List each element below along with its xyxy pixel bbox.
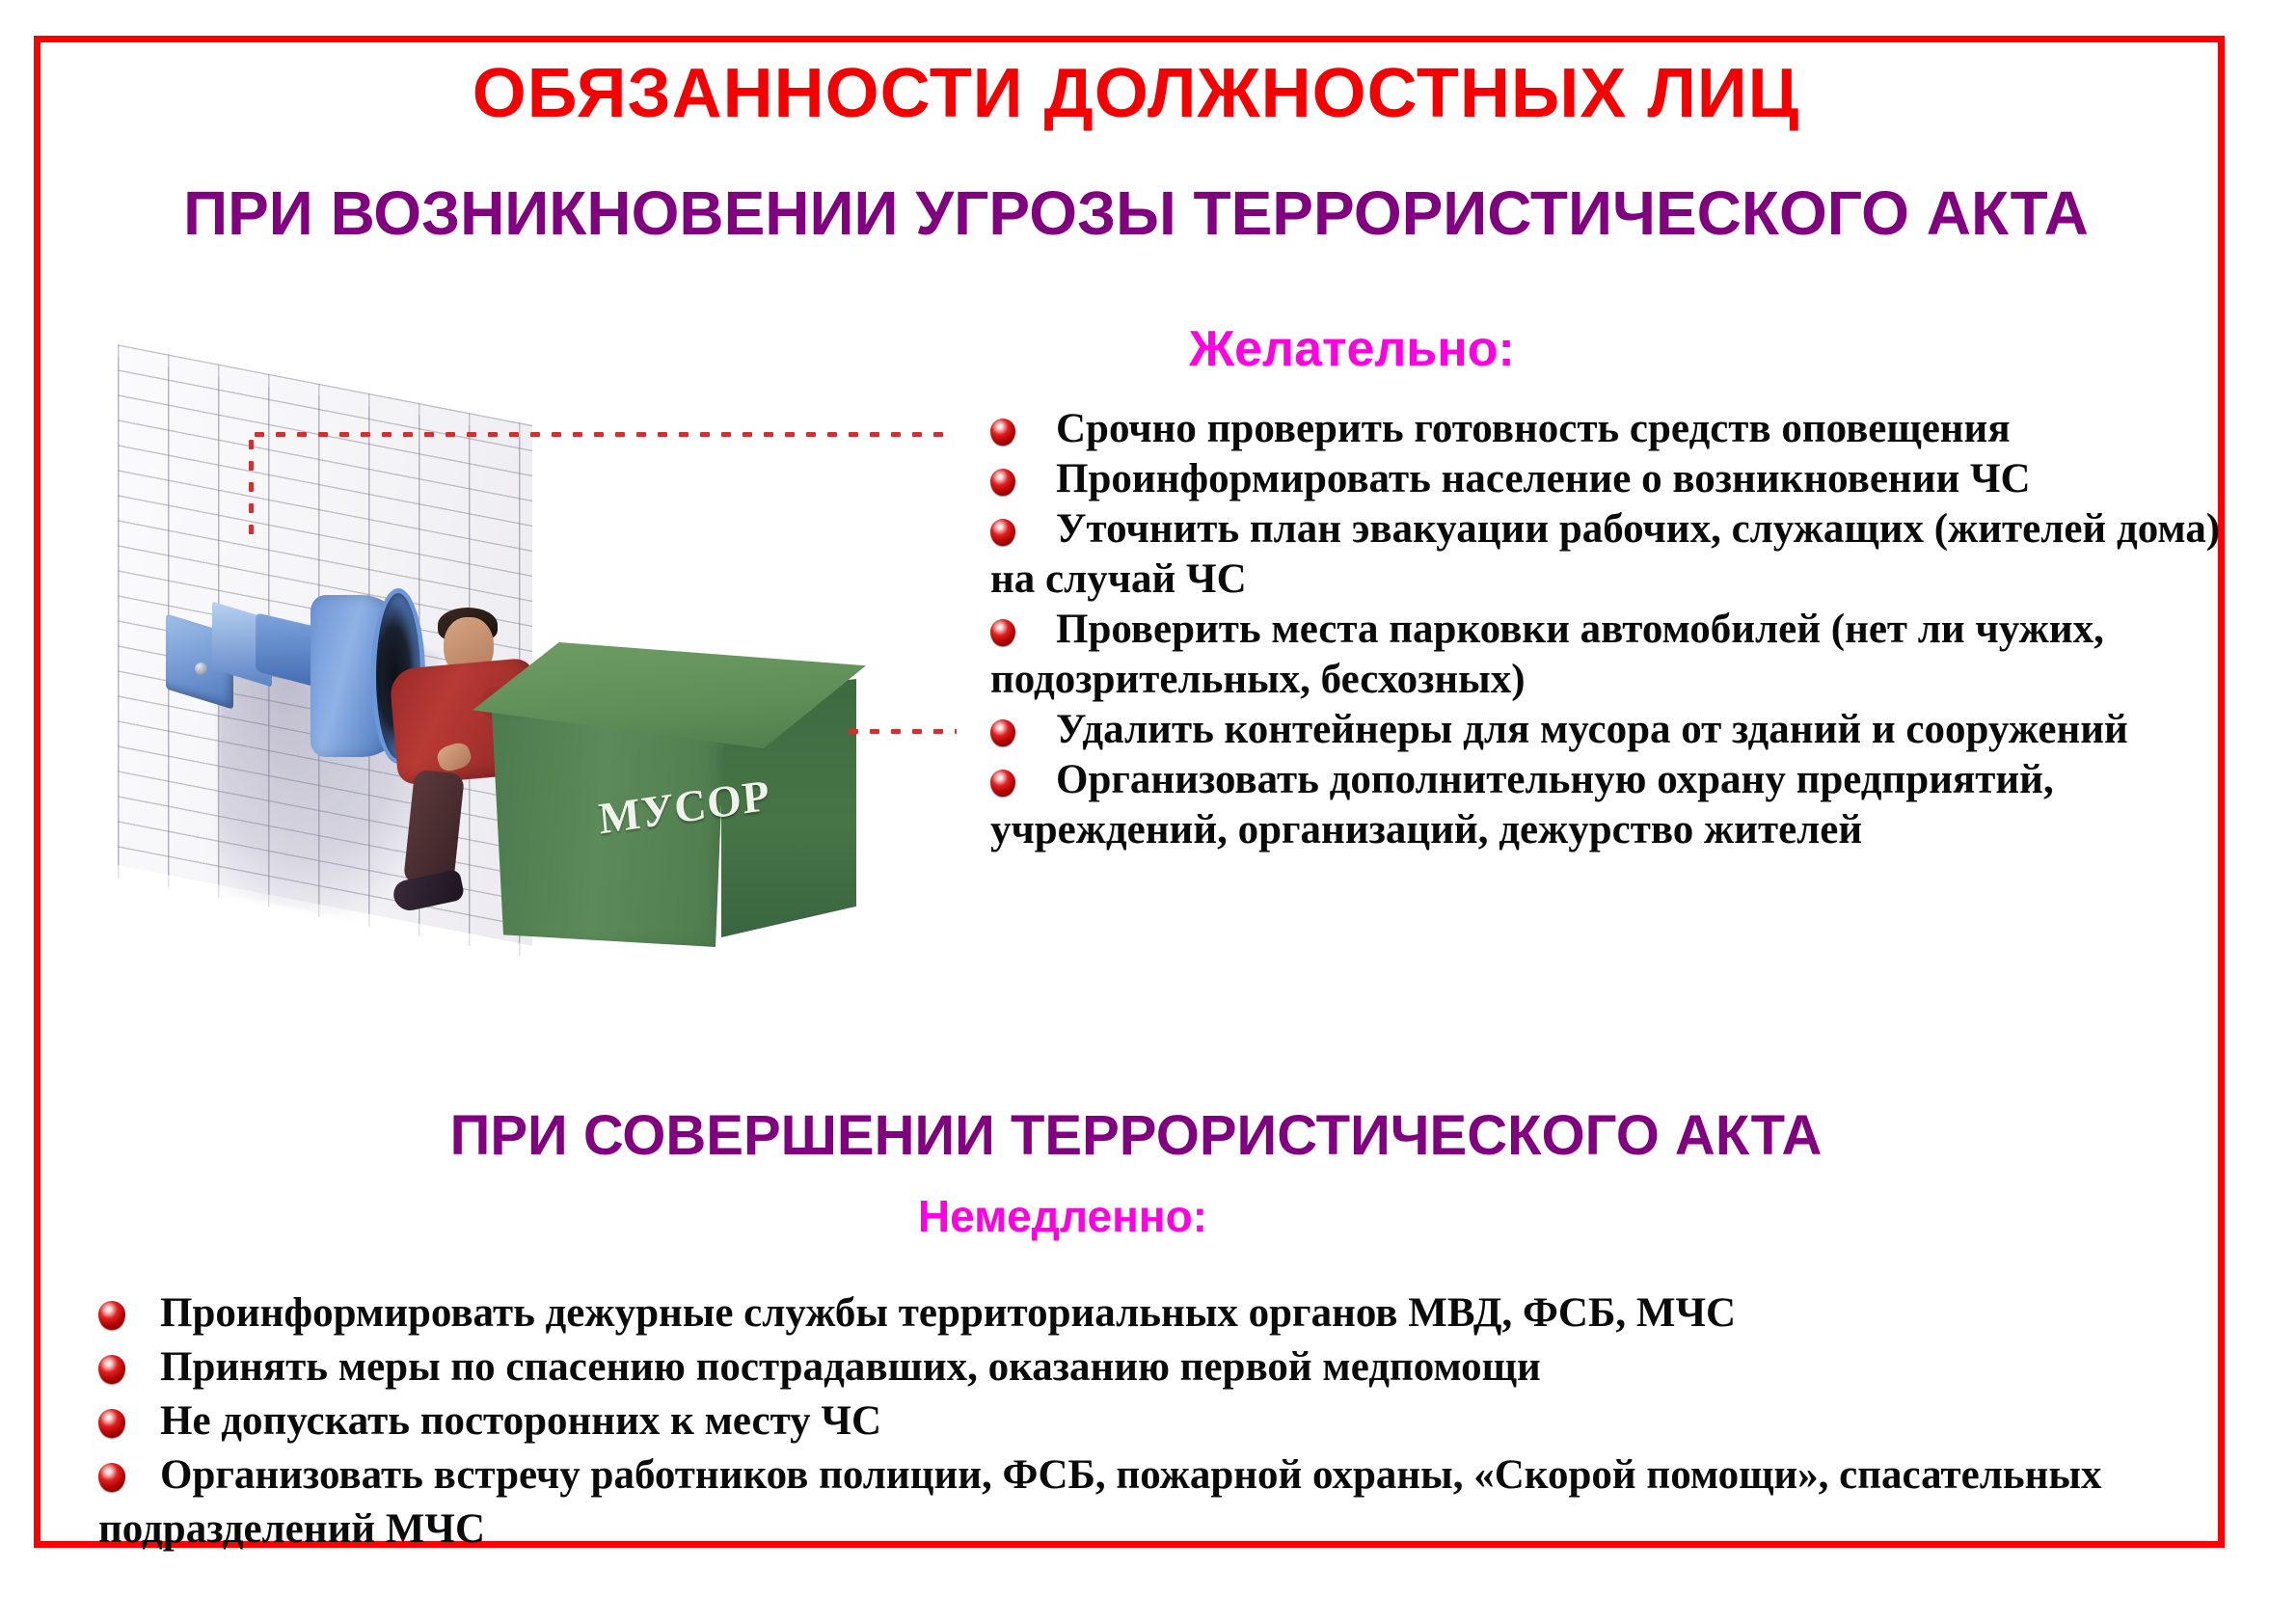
section-label-desirable: Желательно: bbox=[1014, 320, 1689, 378]
page-title: ОБЯЗАННОСТИ ДОЛЖНОСТНЫХ ЛИЦ bbox=[41, 54, 2231, 133]
person-leg bbox=[403, 770, 465, 888]
list-item: Проинформировать дежурные службы террито… bbox=[98, 1286, 2172, 1340]
list-item-text: Организовать дополнительную охрану предп… bbox=[990, 757, 2054, 853]
list-item: Организовать встречу работников полиции,… bbox=[98, 1448, 2172, 1556]
list-item-text: Организовать встречу работников полиции,… bbox=[98, 1452, 2101, 1552]
leader-line-vertical bbox=[249, 434, 254, 536]
list-item-text: Проинформировать население о возникновен… bbox=[1056, 456, 2031, 501]
list-item-text: Принять меры по спасению пострадавших, о… bbox=[160, 1344, 1541, 1390]
list-item-text: Уточнить план эвакуации рабочих, служащи… bbox=[990, 506, 2220, 602]
list-item: Не допускать посторонних к месту ЧС bbox=[98, 1394, 2172, 1448]
loudspeaker-horn-icon bbox=[166, 587, 417, 780]
section-label-immediately: Немедленно: bbox=[581, 1190, 1545, 1242]
bullet-bead-icon bbox=[990, 719, 1015, 746]
bullet-bead-icon bbox=[990, 619, 1015, 646]
illustration-speaker-and-dumpster: МУСОР bbox=[108, 341, 957, 1007]
list-item-text: Проверить места парковки автомобилей (не… bbox=[990, 607, 2104, 702]
desirable-actions-list: Срочно проверить готовность средств опов… bbox=[990, 404, 2244, 855]
list-item-text: Срочно проверить готовность средств опов… bbox=[1056, 406, 2011, 451]
list-item-text: Проинформировать дежурные службы террито… bbox=[160, 1290, 1736, 1336]
bullet-bead-icon bbox=[98, 1409, 125, 1438]
speaker-screw bbox=[195, 663, 207, 675]
leader-line-speaker bbox=[249, 432, 953, 437]
list-item: Проинформировать население о возникновен… bbox=[990, 454, 2244, 504]
list-item: Уточнить план эвакуации рабочих, служащи… bbox=[990, 504, 2244, 605]
list-item: Принять меры по спасению пострадавших, о… bbox=[98, 1340, 2172, 1394]
section-heading-attack: ПРИ СОВЕРШЕНИИ ТЕРРОРИСТИЧЕСКОГО АКТА bbox=[41, 1103, 2231, 1168]
bullet-bead-icon bbox=[98, 1301, 125, 1330]
list-item-text: Удалить контейнеры для мусора от зданий … bbox=[1056, 707, 2128, 752]
person-shoe bbox=[391, 869, 465, 913]
garbage-container: МУСОР bbox=[484, 621, 870, 968]
list-item: Срочно проверить готовность средств опов… bbox=[990, 404, 2244, 454]
immediate-actions-list: Проинформировать дежурные службы террито… bbox=[98, 1286, 2172, 1556]
bullet-bead-icon bbox=[990, 519, 1015, 546]
bullet-bead-icon bbox=[98, 1463, 125, 1492]
leader-line-dumpster bbox=[843, 729, 957, 734]
bullet-bead-icon bbox=[990, 770, 1015, 797]
poster-frame: ОБЯЗАННОСТИ ДОЛЖНОСТНЫХ ЛИЦ ПРИ ВОЗНИКНО… bbox=[34, 36, 2225, 1548]
section-heading-threat: ПРИ ВОЗНИКНОВЕНИИ УГРОЗЫ ТЕРРОРИСТИЧЕСКО… bbox=[41, 177, 2231, 249]
list-item: Удалить контейнеры для мусора от зданий … bbox=[990, 705, 2244, 755]
list-item-text: Не допускать посторонних к месту ЧС bbox=[160, 1398, 881, 1444]
bullet-bead-icon bbox=[990, 469, 1015, 496]
bullet-bead-icon bbox=[98, 1355, 125, 1384]
bullet-bead-icon bbox=[990, 419, 1015, 446]
list-item: Организовать дополнительную охрану предп… bbox=[990, 755, 2244, 855]
list-item: Проверить места парковки автомобилей (не… bbox=[990, 605, 2244, 705]
